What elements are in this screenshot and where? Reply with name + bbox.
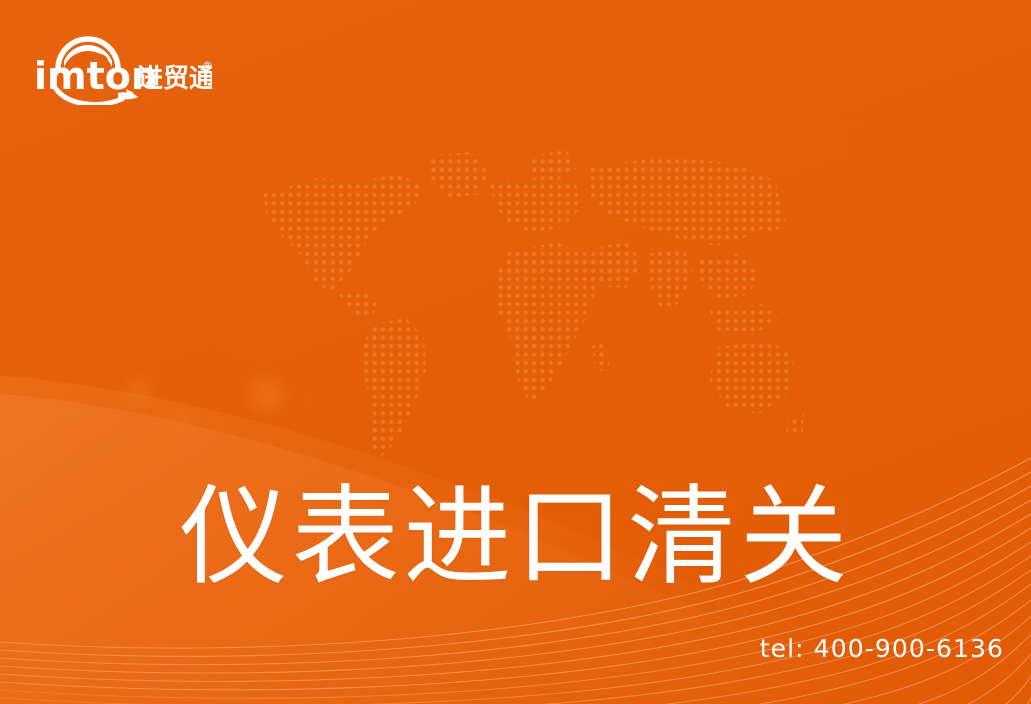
company-logo[interactable]: imton 进贸通 ® — [34, 27, 212, 105]
promo-banner: imton 进贸通 ® 仪表进口清关 代理公司 tel: 400-900-613… — [0, 0, 1031, 704]
page-title: 仪表进口清关 代理公司 — [0, 228, 1031, 704]
registered-trademark-icon: ® — [202, 59, 212, 72]
page-title-line1: 仪表进口清关 — [0, 476, 1031, 600]
logo-chinese-name: 进贸通 — [137, 64, 212, 94]
telephone-text: tel: 400-900-6136 — [760, 634, 1004, 663]
